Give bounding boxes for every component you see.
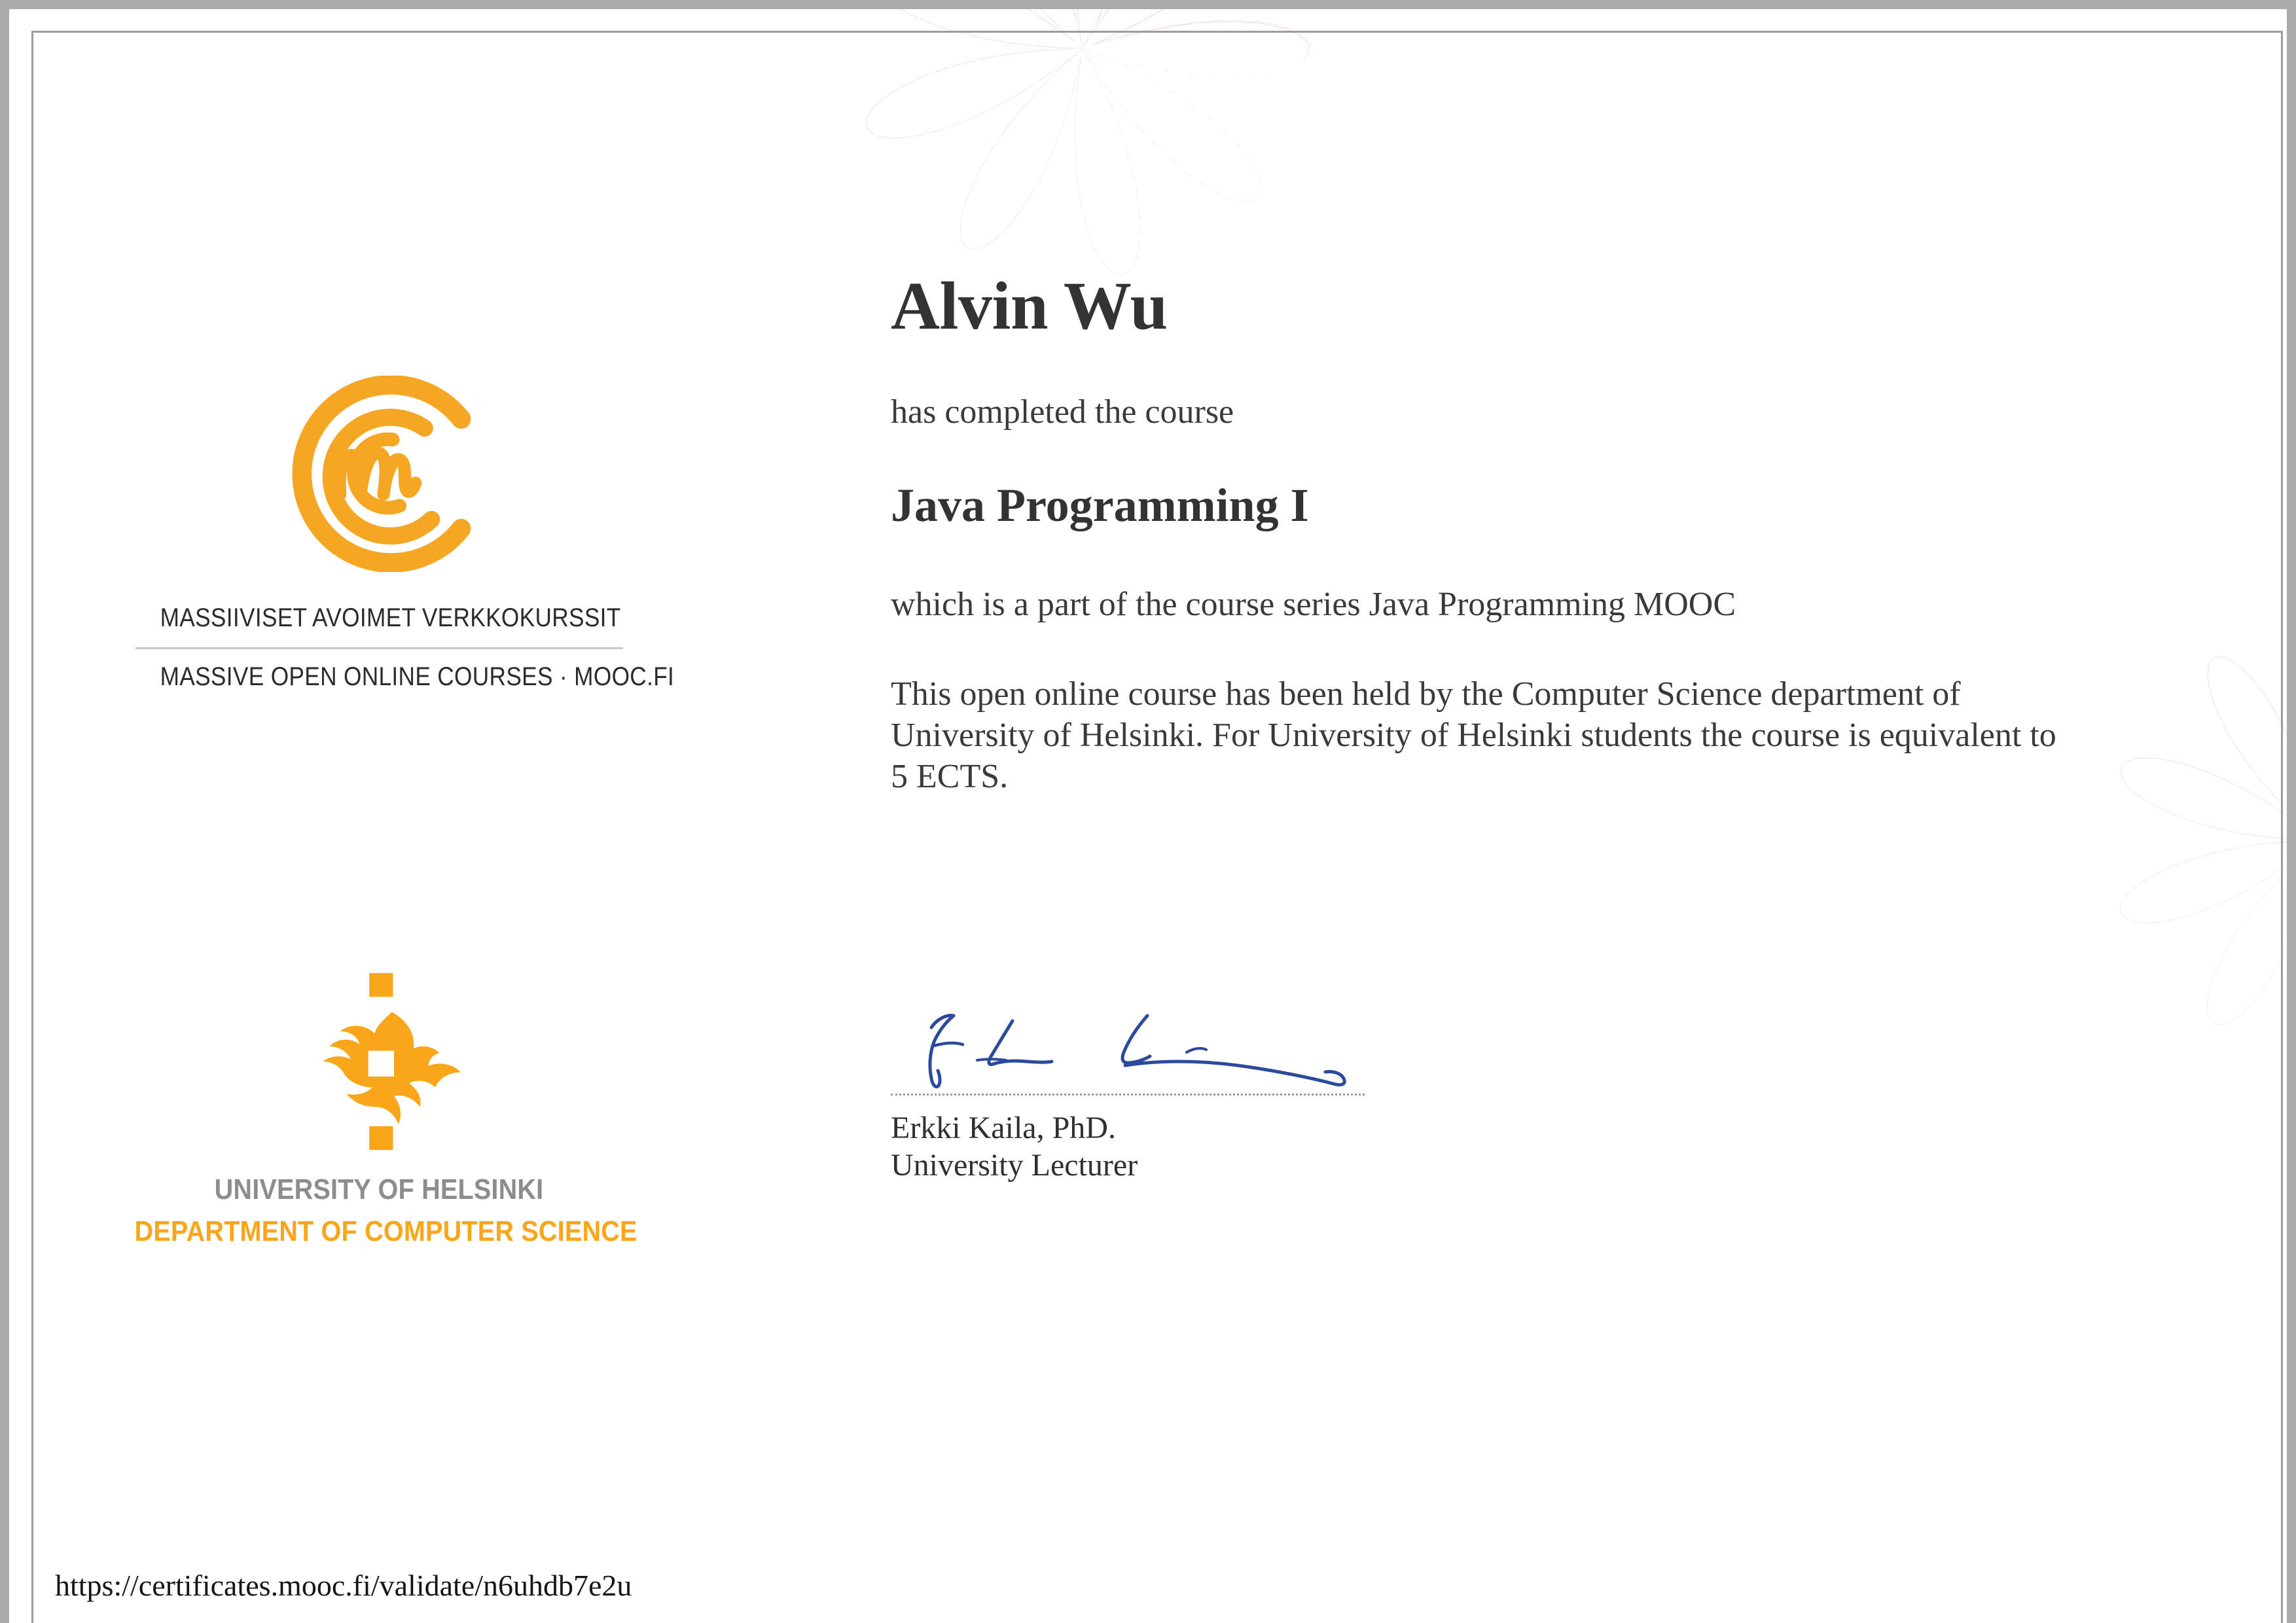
signer-title: University Lecturer — [891, 1147, 1369, 1185]
helsinki-flame-icon — [271, 967, 487, 1156]
university-name: UNIVERSITY OF HELSINKI — [135, 1173, 624, 1206]
mooc-spiral-m-icon — [261, 376, 497, 572]
completed-label: has completed the course — [891, 395, 2174, 429]
certificate-page: MASSIIVISET AVOIMET VERKKOKURSSIT MASSIV… — [9, 9, 2287, 1623]
certificate-body: Alvin Wu has completed the course Java P… — [891, 270, 2174, 798]
course-series-line: which is a part of the course series Jav… — [891, 588, 2174, 622]
mooc-wordmark-divider — [135, 647, 623, 649]
logo-column: MASSIIVISET AVOIMET VERKKOKURSSIT MASSIV… — [107, 376, 651, 1248]
signature-block: Erkki Kaila, PhD. University Lecturer — [891, 997, 1369, 1184]
mooc-tagline-en: MASSIVE OPEN ONLINE COURSES · MOOC.FI — [160, 662, 598, 692]
validation-url[interactable]: https://certificates.mooc.fi/validate/n6… — [55, 1568, 632, 1603]
guilloche-rosette-icon — [834, 9, 1331, 297]
department-name: DEPARTMENT OF COMPUTER SCIENCE — [135, 1215, 624, 1248]
course-title: Java Programming I — [891, 482, 2174, 529]
mooc-tagline-fi: MASSIIVISET AVOIMET VERKKOKURSSIT — [160, 603, 598, 633]
certificate-viewport: MASSIIVISET AVOIMET VERKKOKURSSIT MASSIV… — [0, 0, 2296, 1623]
mooc-logo: MASSIIVISET AVOIMET VERKKOKURSSIT MASSIV… — [107, 376, 651, 692]
certificate-description: This open online course has been held by… — [891, 674, 2079, 798]
handwritten-signature-icon — [891, 997, 1362, 1092]
signature-rule — [891, 1094, 1365, 1096]
recipient-name: Alvin Wu — [891, 270, 2174, 343]
mooc-wordmark: MASSIIVISET AVOIMET VERKKOKURSSIT MASSIV… — [130, 603, 628, 692]
signer-name: Erkki Kaila, PhD. — [891, 1110, 1369, 1147]
university-of-helsinki-logo: UNIVERSITY OF HELSINKI DEPARTMENT OF COM… — [107, 967, 651, 1248]
